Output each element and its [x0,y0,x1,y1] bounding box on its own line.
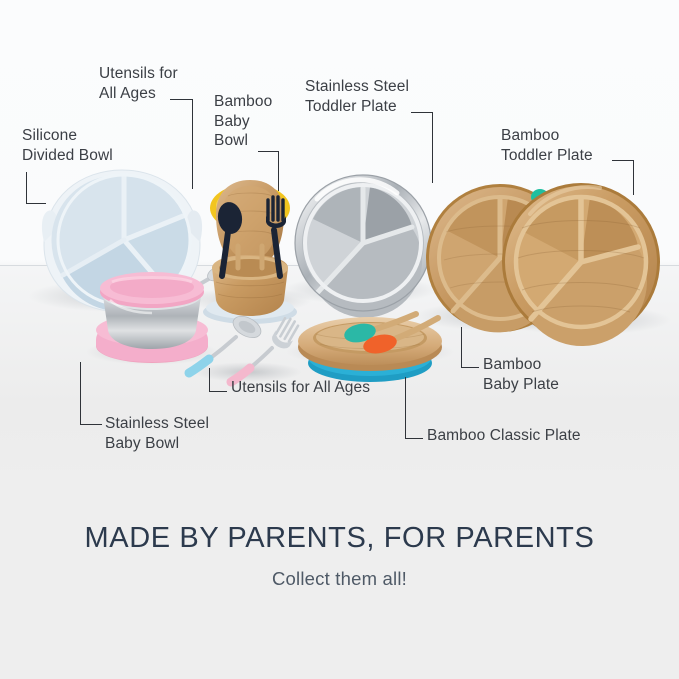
label-utensils-all-ages-bottom: Utensils for All Ages [231,378,370,398]
leader-stainless-steel-toddler-plate [411,112,434,183]
footer-headline: MADE BY PARENTS, FOR PARENTS [0,522,679,555]
leader-utensils-all-ages-top [170,99,194,189]
label-utensils-all-ages-top: Utensils for All Ages [99,64,178,103]
label-bamboo-baby-bowl: Bamboo Baby Bowl [214,92,272,151]
leader-bamboo-baby-bowl [258,151,280,191]
leader-stainless-steel-baby-bowl [80,362,104,425]
leader-utensils-all-ages-bottom [209,368,229,392]
label-bamboo-baby-plate: Bamboo Baby Plate [483,355,559,394]
label-stainless-steel-toddler-plate: Stainless Steel Toddler Plate [305,77,409,116]
label-bamboo-toddler-plate: Bamboo Toddler Plate [501,126,593,165]
label-bamboo-classic-plate: Bamboo Classic Plate [427,426,581,446]
leader-bamboo-baby-plate [461,327,481,368]
infographic-root: Silicone Divided Bowl Utensils for All A… [0,0,679,679]
label-stainless-steel-baby-bowl: Stainless Steel Baby Bowl [105,414,209,453]
leader-bamboo-classic-plate [405,377,425,439]
leader-silicone-divided-bowl [26,172,48,204]
label-silicone-divided-bowl: Silicone Divided Bowl [22,126,113,165]
footer-subline: Collect them all! [0,568,679,590]
leader-bamboo-toddler-plate [612,160,635,195]
product-bamboo-baby-bowl [203,180,297,324]
product-bamboo-classic-plate [298,314,442,382]
